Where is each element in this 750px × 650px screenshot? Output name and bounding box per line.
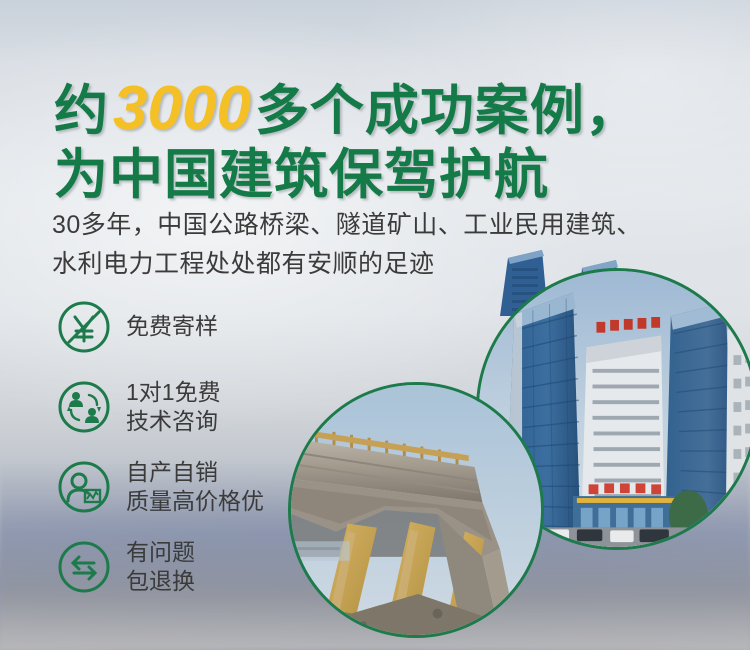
list-item[interactable]: 自产自销 质量高价格优 [56, 456, 264, 518]
headline-number: 3000 [109, 74, 255, 143]
subtitle-line-1: 30多年，中国公路桥梁、隧道矿山、工业民用建筑、 [52, 206, 642, 245]
self-produce-sell-icon [56, 459, 112, 515]
feature-line: 技术咨询 [126, 407, 221, 436]
list-item[interactable]: 1对1免费 技术咨询 [56, 376, 264, 438]
return-exchange-icon [56, 539, 112, 595]
one-to-one-consult-icon [56, 379, 112, 435]
promo-banner: 约3000多个成功案例， 为中国建筑保驾护航 30多年，中国公路桥梁、隧道矿山、… [0, 0, 750, 650]
list-item[interactable]: 有问题 包退换 [56, 536, 264, 598]
feature-line: 自产自销 [126, 458, 264, 487]
no-fee-yuan-icon [56, 299, 112, 355]
feature-line: 1对1免费 [126, 378, 221, 407]
feature-line: 包退换 [126, 567, 195, 596]
headline-prefix: 约 [54, 81, 109, 141]
feature-line: 有问题 [126, 538, 195, 567]
bridge-photo [288, 382, 544, 638]
feature-line: 免费寄样 [126, 312, 218, 341]
headline-line-1: 约3000多个成功案例， [54, 78, 640, 140]
feature-line: 质量高价格优 [126, 487, 264, 516]
list-item-label: 有问题 包退换 [126, 538, 195, 597]
headline-suffix: 多个成功案例， [255, 81, 640, 141]
list-item-label: 免费寄样 [126, 312, 218, 341]
list-item[interactable]: 免费寄样 [56, 296, 264, 358]
headline: 约3000多个成功案例， 为中国建筑保驾护航 [54, 78, 640, 202]
feature-list: 免费寄样 [56, 296, 264, 598]
bridge-photo-graphic [291, 385, 541, 635]
headline-line-2: 为中国建筑保驾护航 [54, 148, 640, 202]
list-item-label: 1对1免费 技术咨询 [126, 378, 221, 437]
list-item-label: 自产自销 质量高价格优 [126, 458, 264, 517]
